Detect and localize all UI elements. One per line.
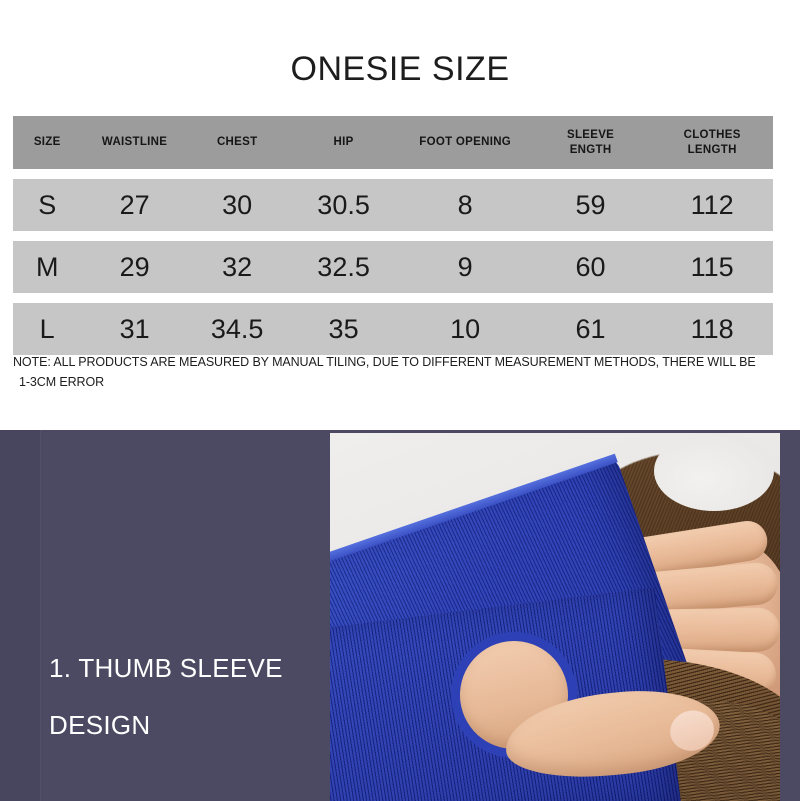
cell-chest: 32: [188, 252, 287, 283]
size-chart-table: SIZE WAISTLINE CHEST HIP FOOT OPENING SL…: [13, 116, 773, 365]
cell-size: M: [13, 252, 81, 283]
cell-chest: 34.5: [188, 314, 287, 345]
column-header-sleeve-length-line2: ENGTH: [570, 143, 612, 158]
cell-hip: 35: [287, 314, 401, 345]
table-row: S 27 30 30.5 8 59 112: [13, 179, 773, 231]
product-photo-thumb-sleeve: [330, 433, 780, 801]
column-header-foot-opening: FOOT OPENING: [401, 116, 530, 169]
table-row: M 29 32 32.5 9 60 115: [13, 241, 773, 293]
column-header-clothes-length-line1: CLOTHES: [684, 128, 741, 143]
column-header-clothes-length-line2: LENGTH: [688, 143, 737, 158]
measurement-note-line2: 1-3CM ERROR: [13, 372, 788, 392]
cell-sleeve-length: 60: [530, 252, 652, 283]
cell-sleeve-length: 59: [530, 190, 652, 221]
panel-divider-rule: [40, 430, 41, 801]
cell-clothes-length: 118: [651, 314, 773, 345]
column-header-clothes-length: CLOTHES LENGTH: [651, 116, 773, 169]
column-header-hip-label: HIP: [334, 135, 354, 150]
cell-hip: 32.5: [287, 252, 401, 283]
cell-waistline: 31: [81, 314, 187, 345]
cell-clothes-length: 112: [651, 190, 773, 221]
column-header-waistline: WAISTLINE: [81, 116, 187, 169]
column-header-chest: CHEST: [188, 116, 287, 169]
cell-chest: 30: [188, 190, 287, 221]
photo-highlight: [654, 433, 774, 511]
column-header-chest-label: CHEST: [217, 135, 257, 150]
panel-left-shade: [0, 430, 40, 801]
table-row: L 31 34.5 35 10 61 118: [13, 303, 773, 355]
feature-caption-line1: 1. THUMB SLEEVE: [49, 653, 283, 683]
column-header-size: SIZE: [13, 116, 81, 169]
column-header-foot-opening-label: FOOT OPENING: [419, 135, 511, 150]
cell-waistline: 27: [81, 190, 187, 221]
feature-caption-line2: DESIGN: [49, 697, 324, 754]
column-header-size-label: SIZE: [34, 135, 61, 150]
table-header-row: SIZE WAISTLINE CHEST HIP FOOT OPENING SL…: [13, 116, 773, 169]
cell-foot-opening: 10: [401, 314, 530, 345]
cell-hip: 30.5: [287, 190, 401, 221]
cell-waistline: 29: [81, 252, 187, 283]
column-header-sleeve-length-line1: SLEEVE: [567, 128, 614, 143]
column-header-hip: HIP: [287, 116, 401, 169]
cell-size: L: [13, 314, 81, 345]
measurement-note: NOTE: ALL PRODUCTS ARE MEASURED BY MANUA…: [13, 352, 788, 392]
product-detail-page: ONESIE SIZE SIZE WAISTLINE CHEST HIP FOO…: [0, 0, 800, 801]
cell-foot-opening: 9: [401, 252, 530, 283]
cell-size: S: [13, 190, 81, 221]
cell-foot-opening: 8: [401, 190, 530, 221]
feature-caption: 1. THUMB SLEEVE DESIGN: [49, 640, 324, 754]
page-title: ONESIE SIZE: [0, 50, 800, 89]
measurement-note-line1: NOTE: ALL PRODUCTS ARE MEASURED BY MANUA…: [13, 355, 756, 369]
cell-sleeve-length: 61: [530, 314, 652, 345]
column-header-sleeve-length: SLEEVE ENGTH: [530, 116, 652, 169]
column-header-waistline-label: WAISTLINE: [102, 135, 167, 150]
panel-right-edge: [780, 430, 800, 801]
feature-photo-section: 1. THUMB SLEEVE DESIGN: [0, 430, 800, 801]
cell-clothes-length: 115: [651, 252, 773, 283]
size-chart-section: ONESIE SIZE SIZE WAISTLINE CHEST HIP FOO…: [0, 0, 800, 430]
